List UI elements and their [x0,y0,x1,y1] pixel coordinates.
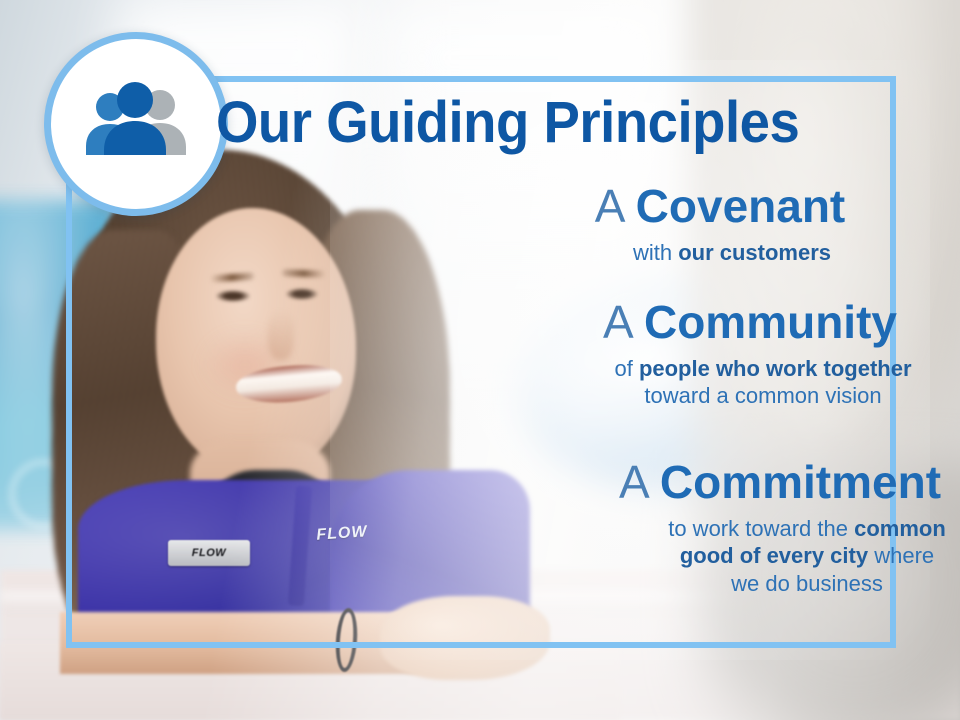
principle-community: A Community of people who work together … [0,298,960,410]
subtext-segment: with [633,240,678,265]
subtext-line: to work toward the common [354,515,960,543]
subtext-segment: we do business [731,571,883,596]
subtext-segment: of [614,356,638,381]
principle-community-keyword: Community [644,296,897,348]
subtext-line: of people who work together [296,355,960,383]
principle-covenant-keyword: Covenant [636,180,846,232]
guiding-principles-graphic: FLOW FLOW [0,0,960,720]
subtext-segment: to work toward the [668,516,854,541]
subtext-segment-bold: good of every city [680,543,868,568]
subtext-line: with our customers [264,239,960,267]
subtext-line: we do business [354,570,960,598]
subtext-segment-bold: our customers [678,240,831,265]
principle-community-heading: A Community [270,298,960,347]
subtext-segment: toward a common vision [644,383,881,408]
principle-community-subtext: of people who work together toward a com… [270,355,960,410]
subtext-segment: where [868,543,934,568]
principle-community-article: A [603,296,631,348]
text-content: Our Guiding Principles A Covenant with o… [0,0,960,720]
subtext-line: good of every city where [354,542,960,570]
subtext-segment-bold: people who work together [639,356,912,381]
subtext-line: toward a common vision [296,382,960,410]
principle-covenant: A Covenant with our customers [0,182,960,266]
principle-commitment-keyword: Commitment [660,456,941,508]
principle-covenant-article: A [595,180,623,232]
principle-commitment-heading: A Commitment [300,458,960,507]
principle-commitment: A Commitment to work toward the common g… [0,458,960,597]
page-title: Our Guiding Principles [216,94,836,152]
principle-covenant-subtext: with our customers [240,239,960,267]
principle-commitment-subtext: to work toward the common good of every … [300,515,960,598]
subtext-segment-bold: common [854,516,946,541]
principle-covenant-heading: A Covenant [240,182,960,231]
principle-commitment-article: A [619,456,647,508]
